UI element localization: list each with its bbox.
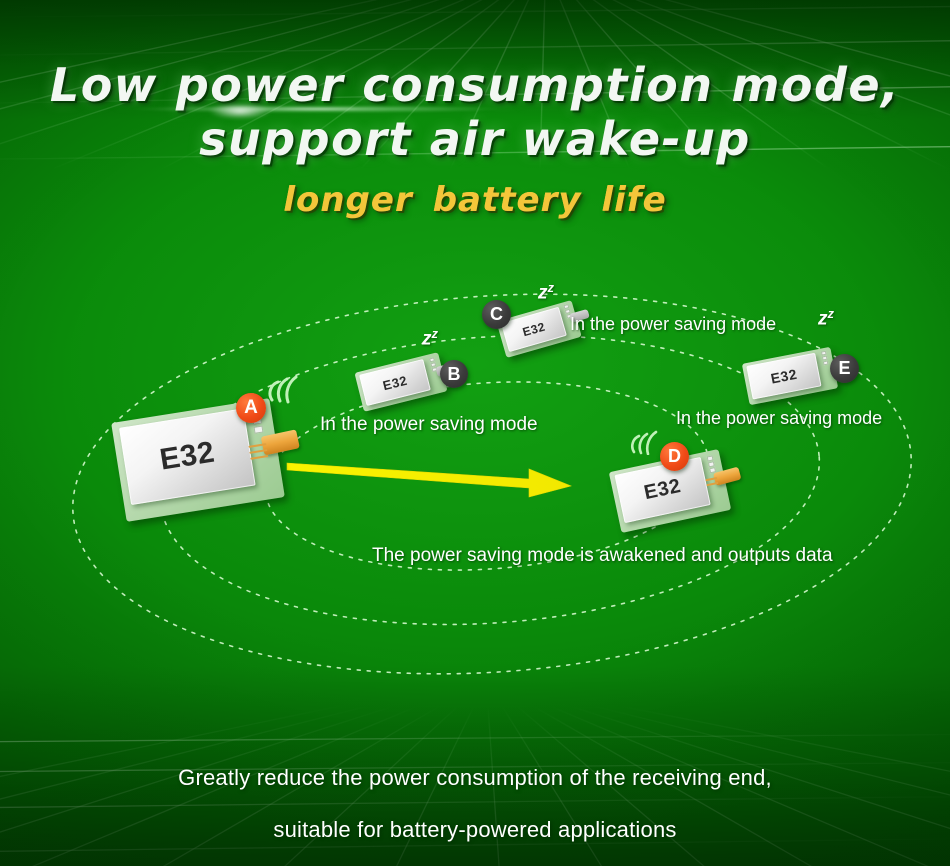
caption-e: In the power saving mode <box>676 408 882 429</box>
subtitle-word: longer <box>283 180 412 220</box>
badge-a[interactable]: A <box>236 393 266 423</box>
zz-big: z <box>538 282 548 303</box>
zz-small: z <box>828 306 835 321</box>
network-diagram: E32 A <box>0 250 950 680</box>
module-b-label: E32 <box>381 372 409 393</box>
promo-banner: Lowpowerconsumptionmode, supportairwake-… <box>0 0 950 866</box>
caption-c: In the power saving mode <box>570 314 776 335</box>
headline-word: mode, <box>731 58 900 112</box>
headline-line-2: supportairwake-up <box>0 112 950 166</box>
zz-big: z <box>422 328 432 349</box>
headline-word: wake-up <box>522 112 751 166</box>
module-e-label: E32 <box>769 366 798 387</box>
caption-d: The power saving mode is awakened and ou… <box>372 545 833 567</box>
module-c-label: E32 <box>521 320 547 340</box>
module-a-label: E32 <box>158 436 218 478</box>
subtitle: longerbatterylife <box>0 180 950 220</box>
badge-b[interactable]: B <box>440 360 468 388</box>
signal-waves-a <box>266 370 302 404</box>
zz-small: z <box>432 326 439 341</box>
footer-line-2: suitable for battery-powered application… <box>0 804 950 856</box>
caption-b: In the power saving mode <box>320 414 538 436</box>
zz-big: z <box>818 308 828 329</box>
data-arrow <box>285 445 585 505</box>
headline-word: air <box>430 112 504 166</box>
zz-small: z <box>548 280 555 295</box>
signal-waves-d <box>628 425 660 455</box>
sleep-indicator-b: zz <box>422 326 438 350</box>
sleep-indicator-c2: zz <box>818 306 834 330</box>
sleep-indicator-c: zz <box>538 280 554 304</box>
module-d-label: E32 <box>642 475 683 505</box>
light-flare <box>195 100 285 122</box>
subtitle-word: battery <box>433 180 582 220</box>
badge-d[interactable]: D <box>660 442 689 471</box>
footer-text: Greatly reduce the power consumption of … <box>0 752 950 856</box>
footer-line-1: Greatly reduce the power consumption of … <box>0 752 950 804</box>
subtitle-word: life <box>602 180 667 220</box>
badge-e[interactable]: E <box>830 354 859 383</box>
badge-c[interactable]: C <box>482 300 511 329</box>
